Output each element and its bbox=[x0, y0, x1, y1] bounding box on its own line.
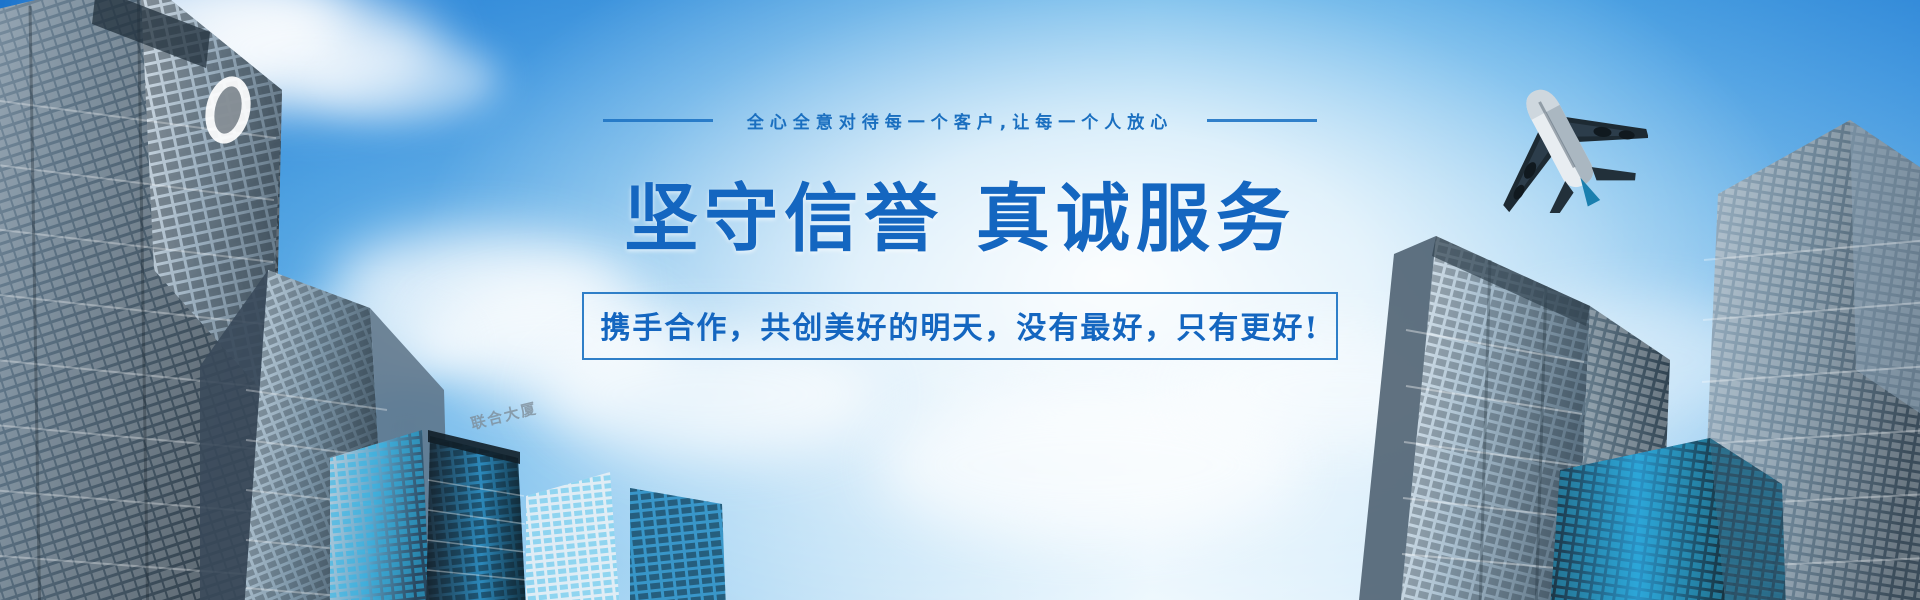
building-center-glass-cluster bbox=[330, 400, 750, 600]
airplane-svg bbox=[1478, 78, 1648, 213]
rule-left-icon bbox=[603, 119, 713, 122]
tagline: 全心全意对待每一个客户,让每一个人放心 bbox=[747, 108, 1173, 133]
building-center-glass-svg bbox=[330, 400, 750, 600]
hero-banner: 联合大厦 bbox=[0, 0, 1920, 600]
page-title: 坚守信誉 真诚服务 bbox=[624, 159, 1296, 266]
tagline-row: 全心全意对待每一个客户,让每一个人放心 bbox=[603, 108, 1317, 133]
airplane-icon bbox=[1478, 78, 1648, 213]
building-right-glass-svg bbox=[1530, 430, 1790, 600]
building-right-glass bbox=[1530, 430, 1790, 600]
rule-right-icon bbox=[1207, 119, 1317, 122]
